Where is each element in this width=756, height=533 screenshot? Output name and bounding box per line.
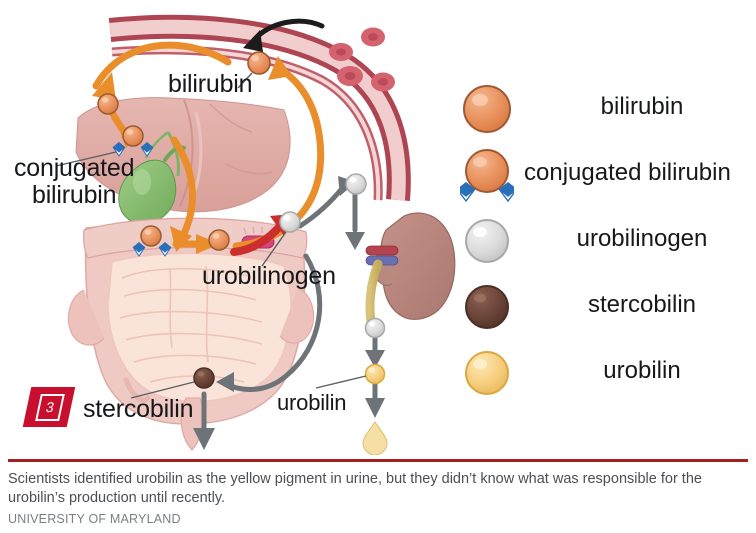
label-urobilinogen: urobilinogen	[202, 263, 336, 290]
legend-item-urobilin: urobilin	[452, 340, 752, 406]
label-conjugated-bilirubin-line1: conjugated	[14, 154, 134, 182]
label-conjugated-bilirubin-line2: bilirubin	[32, 181, 116, 209]
molecule-urobilinogen-urine	[366, 319, 385, 338]
legend-label-urobilinogen: urobilinogen	[532, 222, 752, 256]
step-badge: 3	[27, 387, 71, 427]
label-stercobilin: stercobilin	[83, 396, 193, 423]
caption-text: Scientists identified urobilin as the ye…	[8, 470, 746, 508]
molecule-urobilinogen-gut	[280, 212, 300, 232]
diagram-figure: 3 bilirubin conjugatedbilirubin urobilin…	[0, 0, 756, 455]
caption-credit: UNIVERSITY OF MARYLAND	[8, 512, 181, 526]
molecule-stercobilin	[194, 368, 214, 388]
legend-label-conjugated-bilirubin: conjugated bilirubin	[524, 156, 744, 190]
label-bilirubin: bilirubin	[168, 71, 252, 98]
molecule-urobilinogen-blood	[346, 174, 366, 194]
kidney	[366, 213, 455, 328]
legend-label-bilirubin: bilirubin	[532, 90, 752, 124]
molecule-bilirubin-liver-in	[98, 94, 118, 114]
legend-label-stercobilin: stercobilin	[532, 288, 752, 322]
urine-drop	[363, 422, 387, 455]
molecule-urobilin	[366, 365, 385, 384]
swatch-conjugated-bilirubin	[460, 148, 514, 202]
legend-item-conjugated-bilirubin: conjugated bilirubin	[452, 142, 752, 208]
legend-item-stercobilin: stercobilin	[452, 274, 752, 340]
figure-page: 3 bilirubin conjugatedbilirubin urobilin…	[0, 0, 756, 533]
swatch-urobilin	[460, 346, 514, 400]
label-conjugated-bilirubin: conjugatedbilirubin	[14, 155, 134, 209]
swatch-urobilinogen	[460, 214, 514, 268]
swatch-bilirubin	[460, 82, 514, 136]
swatch-stercobilin	[460, 280, 514, 334]
molecule-bilirubin-gut	[209, 230, 229, 250]
caption-rule	[8, 459, 748, 462]
legend-item-urobilinogen: urobilinogen	[452, 208, 752, 274]
legend-label-urobilin: urobilin	[532, 354, 752, 388]
legend: bilirubin conjugated bilirubin	[452, 76, 752, 406]
leader-urobilin	[316, 376, 366, 388]
label-urobilin: urobilin	[277, 391, 346, 415]
legend-item-bilirubin: bilirubin	[452, 76, 752, 142]
